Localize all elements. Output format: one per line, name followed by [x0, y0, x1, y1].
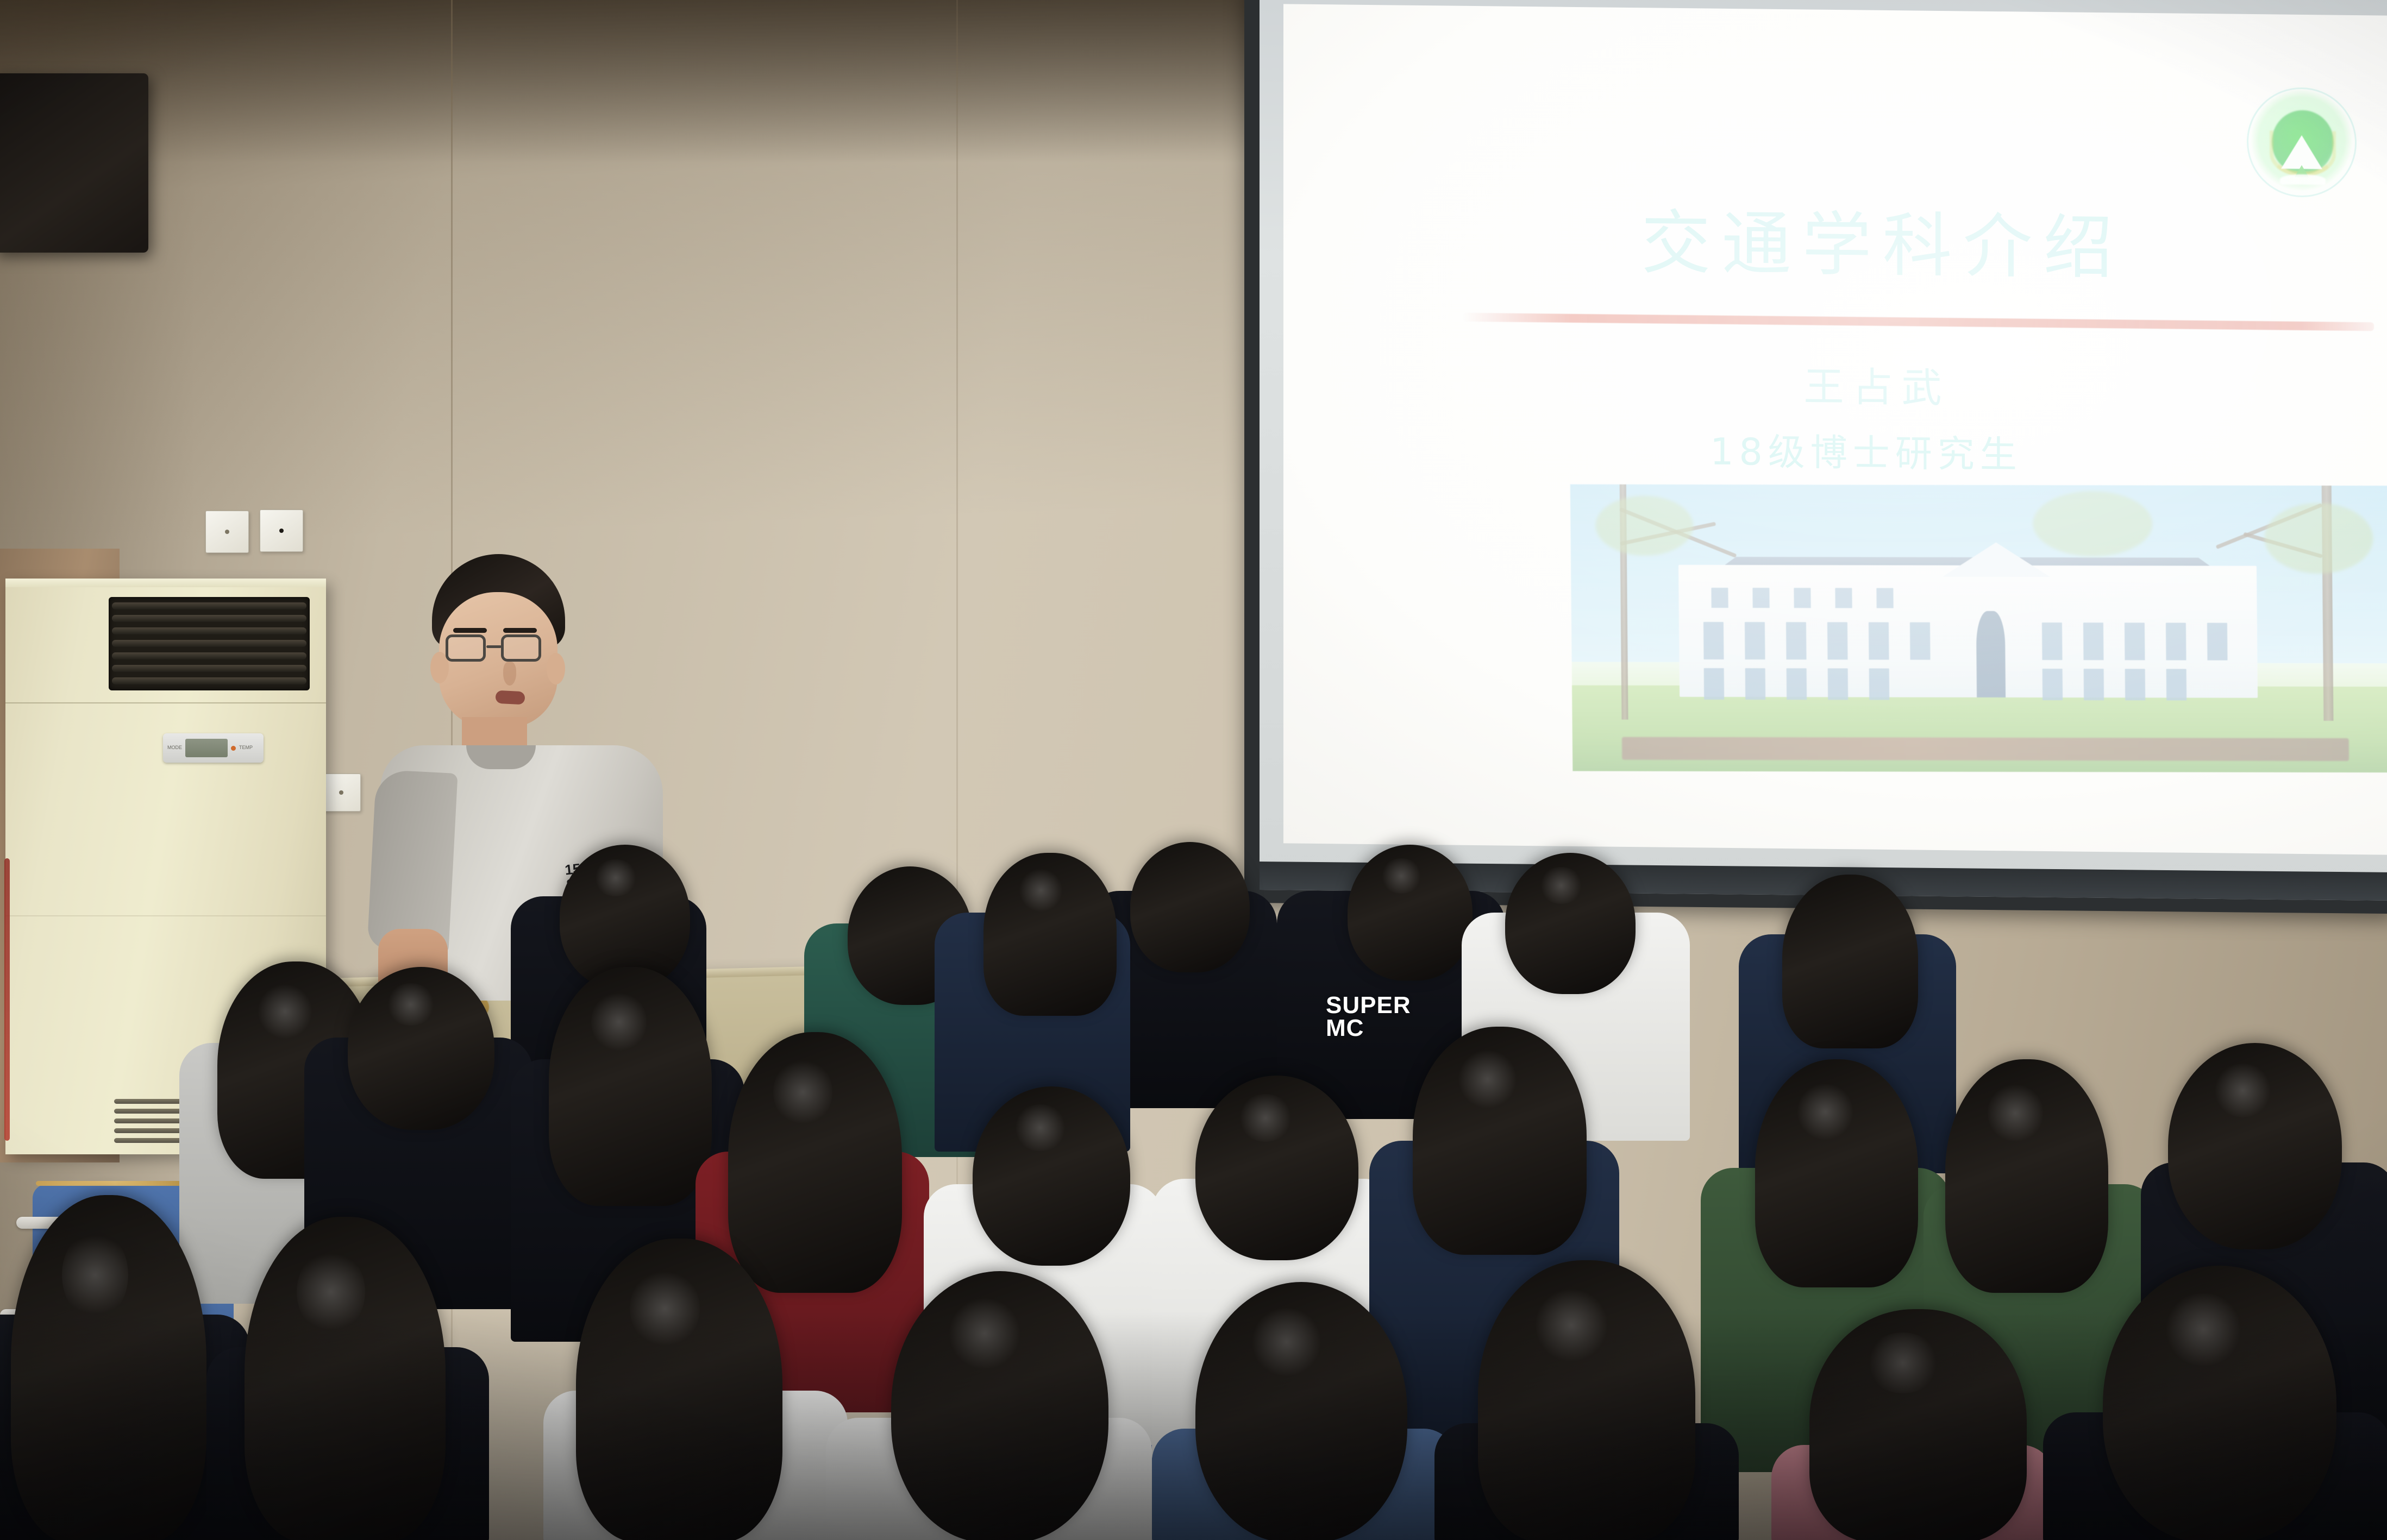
emblem-book: [2280, 174, 2326, 185]
shirt-text-line-1: SUPER: [1326, 994, 1411, 1017]
slide-campus-photo: [1570, 485, 2387, 773]
slide-presenter-name: 王占武: [1283, 349, 2387, 418]
audience-head: [1755, 1059, 1918, 1287]
audience-head: [576, 1239, 782, 1540]
audience-head: [983, 853, 1117, 1016]
slide-accent-rule: [1463, 313, 2374, 331]
presenter-nose: [503, 662, 516, 686]
audience-head: [245, 1217, 446, 1540]
ac-panel-label-temp: TEMP: [239, 745, 253, 751]
audience-head: [348, 967, 494, 1130]
switch-screw: [279, 529, 284, 533]
audience-head: [973, 1086, 1130, 1266]
slide-presenter-affiliation: 18级博士研究生: [1283, 417, 2387, 482]
photo-hedge: [1622, 737, 2349, 761]
audience-head: [1195, 1076, 1358, 1260]
emblem-peak-shape: [2281, 135, 2322, 169]
presenter-eyeglass-bridge: [486, 645, 502, 648]
ac-control-panel[interactable]: MODE TEMP: [163, 733, 264, 763]
audience-head: [1195, 1282, 1407, 1540]
audience-head: [1782, 875, 1918, 1048]
socket-screw: [339, 790, 343, 795]
ac-panel-label-mode: MODE: [167, 745, 182, 751]
audience-head: [1505, 853, 1636, 994]
ac-top-edge: [5, 579, 326, 587]
presenter-brow-right: [503, 628, 537, 633]
slide-title: 交通学科介绍: [1283, 205, 2387, 286]
audience-shirt-graphic: SUPER MC: [1326, 994, 1411, 1040]
audience-head: [2103, 1266, 2336, 1540]
presenter-ear-right: [547, 653, 565, 684]
presenter-mouth: [495, 690, 525, 705]
audience-head: [1348, 845, 1473, 980]
photo-entrance-door: [1976, 611, 2006, 697]
lecture-hall-photo: 交通学科介绍 王占武 18级博士研究生: [0, 0, 2387, 1540]
ac-power-button[interactable]: [231, 746, 236, 751]
presenter-eyeglass-left: [446, 634, 486, 662]
audience-head: [549, 967, 712, 1206]
university-emblem-icon: [2245, 85, 2359, 200]
presenter-eyeglass-right: [501, 634, 541, 662]
presenter-brow-left: [453, 628, 487, 633]
audience-head: [1809, 1309, 2027, 1540]
projection-screen-surface: 交通学科介绍 王占武 18级博士研究生: [1283, 4, 2387, 854]
audience-head: [1478, 1260, 1695, 1540]
seat-trim: [36, 1181, 193, 1186]
wall-switch-plate-left[interactable]: [205, 511, 249, 553]
audience-head: [2168, 1043, 2342, 1249]
audience-head: [11, 1195, 206, 1540]
audience-head: [891, 1271, 1108, 1540]
audience: SUPER MC: [0, 804, 2387, 1540]
switch-screw: [225, 530, 229, 534]
audience-head: [1413, 1027, 1587, 1255]
ac-vent-grille: [109, 597, 310, 690]
audience-head: [1945, 1059, 2108, 1293]
audience-head: [1130, 842, 1250, 972]
wall-switch-plate-right[interactable]: [260, 510, 303, 552]
wall-speaker: [0, 73, 148, 253]
shirt-text-line-2: MC: [1326, 1017, 1411, 1040]
ac-lcd-display: [185, 739, 228, 757]
audience-head: [728, 1032, 902, 1293]
